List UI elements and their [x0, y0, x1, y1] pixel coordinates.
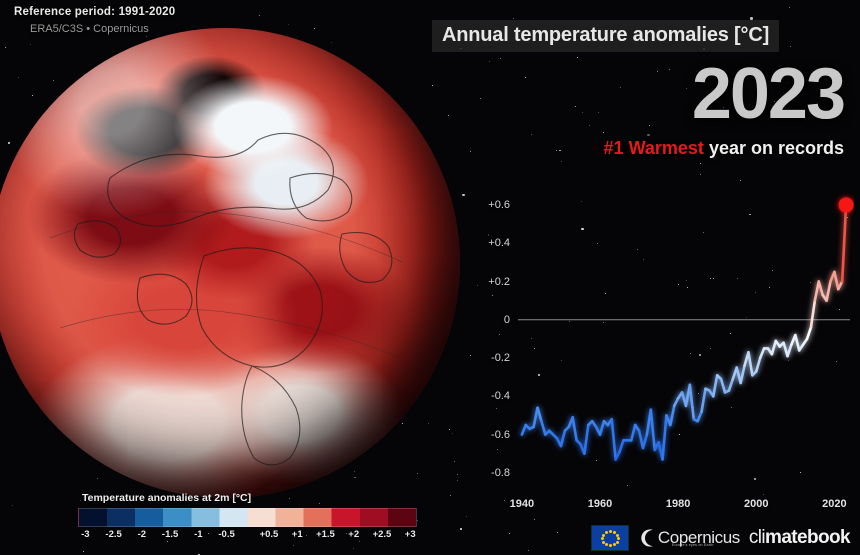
copernicus-tagline: Europe's eyes on Earth	[672, 543, 714, 547]
colorbar-tick: +2.5	[373, 529, 392, 540]
colorbar-tick: -2.5	[105, 529, 121, 540]
colorbar-legend: Temperature anomalies at 2m [°C] -3-2.5-…	[70, 492, 425, 550]
anomaly-line	[522, 205, 846, 460]
x-tick-label: 1940	[510, 498, 534, 510]
end-point-marker	[839, 197, 854, 212]
globe-visualization	[0, 28, 482, 500]
colorbar-tick: -2	[138, 529, 146, 540]
y-tick-label: 0	[504, 314, 510, 326]
climate-infographic: Reference period: 1991-2020 ERA5/C3S • C…	[0, 0, 860, 555]
globe-limb-shading	[0, 28, 460, 498]
colorbar-tick: -1	[194, 529, 202, 540]
anomaly-line-chart: +0.6+0.4+0.20-0.2-0.4-0.6-0.8 1940196019…	[462, 160, 854, 515]
colorbar-tick: +2	[348, 529, 359, 540]
x-tick-label: 2020	[822, 498, 846, 510]
y-axis-labels: +0.6+0.4+0.20-0.2-0.4-0.6-0.8	[462, 160, 510, 490]
colorbar-tick: -1.5	[162, 529, 178, 540]
rank-rest: year on records	[704, 138, 844, 158]
colorbar-tick: +3	[405, 529, 416, 540]
y-tick-label: -0.8	[491, 467, 510, 479]
copernicus-logo: Copernicus Europe's eyes on Earth	[638, 528, 740, 548]
chart-plot-area	[462, 160, 854, 515]
colorbar-gradient	[78, 508, 417, 527]
reference-period-label: Reference period: 1991-2020	[14, 6, 175, 18]
climatebook-bold: matebook	[765, 527, 850, 548]
rank-subtitle: #1 Warmest year on records	[604, 138, 844, 159]
y-tick-label: -0.4	[491, 390, 510, 402]
footer-logos: Copernicus Europe's eyes on Earth climat…	[591, 525, 850, 551]
colorbar-tick-labels: -3-2.5-2-1.5-1-0.5+0.5+1+1.5+2+2.5+3	[78, 529, 417, 545]
colorbar-title: Temperature anomalies at 2m [°C]	[82, 492, 425, 504]
colorbar-tick: +0.5	[260, 529, 279, 540]
rank-highlight: #1 Warmest	[604, 138, 704, 158]
colorbar-tick: -3	[81, 529, 89, 540]
x-tick-label: 1960	[588, 498, 612, 510]
colorbar-tick: -0.5	[218, 529, 234, 540]
colorbar-tick: +1.5	[316, 529, 335, 540]
x-tick-label: 2000	[744, 498, 768, 510]
page-title: Annual temperature anomalies [°C]	[432, 20, 779, 52]
y-tick-label: +0.2	[488, 276, 510, 288]
climatebook-wordmark: climatebook	[749, 527, 850, 549]
colorbar-tick: +1	[292, 529, 303, 540]
year-headline: 2023	[692, 58, 844, 130]
y-tick-label: -0.6	[491, 429, 510, 441]
y-tick-label: -0.2	[491, 352, 510, 364]
y-tick-label: +0.4	[488, 237, 510, 249]
y-tick-label: +0.6	[488, 199, 510, 211]
x-tick-label: 1980	[666, 498, 690, 510]
climatebook-light: cli	[749, 527, 765, 548]
copernicus-crescent-icon	[638, 528, 655, 548]
eu-flag-icon	[591, 525, 629, 551]
